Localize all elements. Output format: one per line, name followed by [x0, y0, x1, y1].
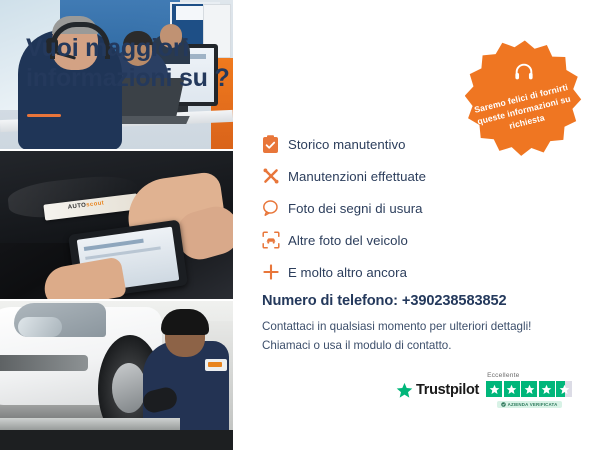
- feature-label: Altre foto del veicolo: [288, 233, 408, 248]
- title-underline-rule: [27, 114, 61, 117]
- rating-label: Eccellente: [487, 372, 519, 379]
- star-rating: [486, 381, 572, 397]
- feature-item-altro: E molto altro ancora: [262, 258, 562, 286]
- feature-label: Foto dei segni di usura: [288, 201, 423, 216]
- star-filled: [539, 381, 555, 397]
- verified-check-icon: [501, 402, 506, 407]
- feature-item-altre-foto: Altre foto del veicolo: [262, 226, 562, 254]
- star-partial: [556, 381, 572, 397]
- paragraph-line-1: Contattaci in qualsiasi momento per ulte…: [262, 318, 562, 337]
- car-scan-icon: [262, 229, 288, 251]
- mechanic-wheel-photo: [0, 301, 233, 450]
- page-title: Vuoi maggiori informazioni su ?: [26, 34, 236, 93]
- trustpilot-rating: Eccellente: [486, 372, 572, 408]
- verified-text: AZIENDA VERIFICATA: [508, 402, 558, 407]
- mechanic-hair: [161, 309, 209, 335]
- headset-icon: [513, 61, 535, 83]
- feature-list: Storico manutentivo Manutenzioni effettu…: [262, 130, 562, 290]
- clipboard-check-icon: [262, 133, 288, 155]
- feature-label: Storico manutentivo: [288, 137, 406, 152]
- phone-line: Numero di telefono: +390238583852: [262, 293, 507, 309]
- plus-icon: [262, 261, 288, 283]
- feature-label: E molto altro ancora: [288, 265, 407, 280]
- card-brand-text: AUTOscout: [68, 200, 105, 210]
- uniform-logo-patch: [205, 359, 227, 371]
- star-filled: [504, 381, 520, 397]
- vehicle-inspection-photo: AUTOscout: [0, 151, 233, 300]
- feature-label: Manutenzioni effettuate: [288, 169, 426, 184]
- feature-item-manutenzioni: Manutenzioni effettuate: [262, 162, 562, 190]
- trustpilot-star-icon: [396, 382, 413, 399]
- star-filled: [486, 381, 502, 397]
- trustpilot-widget[interactable]: Trustpilot Eccellente: [396, 372, 572, 408]
- tools-cross-icon: [262, 165, 288, 187]
- feature-item-storico: Storico manutentivo: [262, 130, 562, 158]
- star-filled: [521, 381, 537, 397]
- paragraph-line-2: Chiamaci o usa il modulo di contatto.: [262, 337, 562, 356]
- verified-company-badge: AZIENDA VERIFICATA: [497, 401, 562, 408]
- trustpilot-brand: Trustpilot: [416, 382, 479, 398]
- promo-card: AUTOscout Vuoi maggiori informa: [0, 0, 600, 450]
- car-wheel-rim: [112, 363, 146, 413]
- inspector-hand-lower: [41, 256, 127, 299]
- phone-number[interactable]: +390238583852: [402, 293, 507, 309]
- search-bubble-icon: [262, 197, 288, 219]
- feature-item-foto-usura: Foto dei segni di usura: [262, 194, 562, 222]
- car-headlight: [18, 317, 62, 337]
- phone-label: Numero di telefono:: [262, 293, 398, 309]
- trustpilot-logo: Trustpilot: [396, 382, 479, 399]
- garage-floor: [0, 430, 233, 450]
- car-grille: [0, 355, 88, 371]
- contact-paragraph: Contattaci in qualsiasi momento per ulte…: [262, 318, 562, 356]
